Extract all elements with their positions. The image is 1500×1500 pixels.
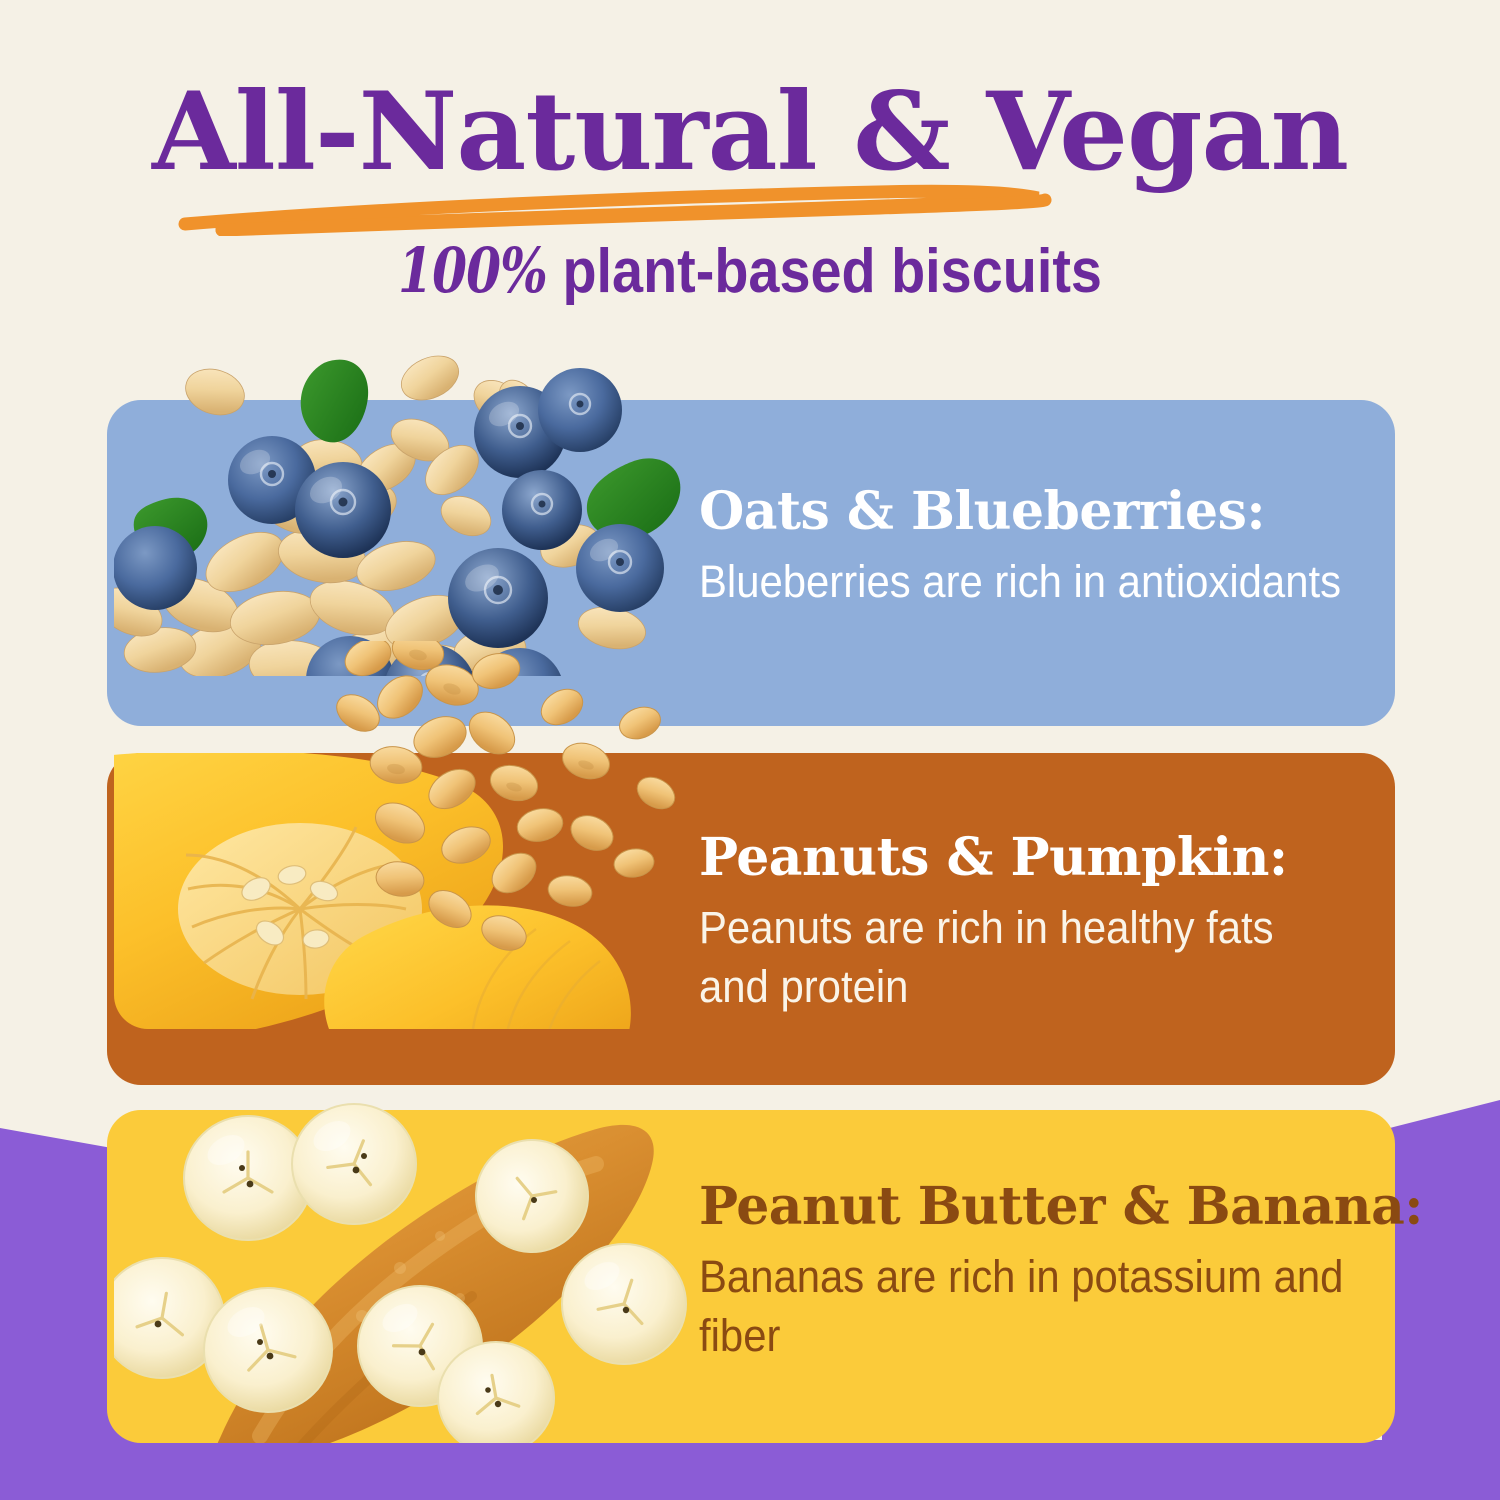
card-text-block: Peanuts & Pumpkin: Peanuts are rich in h… (699, 831, 1399, 1017)
page-title: All-Natural & Vegan (0, 78, 1500, 186)
purple-shape-bottom (0, 1452, 1500, 1500)
card-text-block: Oats & Blueberries: Blueberries are rich… (699, 485, 1399, 611)
card-heading: Peanut Butter & Banana: (699, 1180, 1399, 1235)
page-subtitle: 100% plant-based biscuits (75, 240, 1425, 303)
card-heading: Oats & Blueberries: (699, 485, 1399, 540)
purple-shape-bottom-fill (0, 1440, 1500, 1500)
benefit-card-peanut-butter-banana: Peanut Butter & Banana: Bananas are rich… (107, 1110, 1395, 1443)
card-body: Blueberries are rich in antioxidants (699, 552, 1350, 612)
subtitle-percent: 100% (398, 234, 547, 307)
card-heading: Peanuts & Pumpkin: (699, 831, 1399, 886)
header: All-Natural & Vegan 100% plant-based bis… (0, 0, 1500, 303)
benefit-card-peanuts-pumpkin: Peanuts & Pumpkin: Peanuts are rich in h… (107, 753, 1395, 1085)
card-body: Bananas are rich in potassium and fiber (699, 1247, 1350, 1367)
benefit-card-oats-blueberries: Oats & Blueberries: Blueberries are rich… (107, 400, 1395, 726)
purple-shape-right (1382, 1100, 1500, 1500)
card-body: Peanuts are rich in healthy fats and pro… (699, 898, 1350, 1018)
card-text-block: Peanut Butter & Banana: Bananas are rich… (699, 1180, 1399, 1366)
subtitle-text: plant-based biscuits (547, 237, 1102, 306)
